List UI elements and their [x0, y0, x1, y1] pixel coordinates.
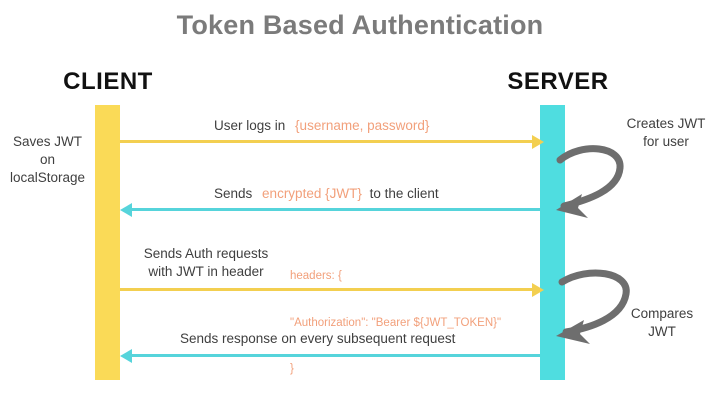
- message-arrow-response: [132, 354, 540, 357]
- message-label-auth-request: Sends Auth requests with JWT in header: [126, 245, 286, 280]
- arrowhead-login: [532, 135, 544, 149]
- note-client-storage-line2: on: [0, 151, 95, 169]
- code-block-headers: headers: { "Authorization": "Bearer ${JW…: [290, 238, 501, 404]
- self-loop-arrow-compares-jwt: [548, 262, 642, 354]
- message-label-auth-request-line1: Sends Auth requests: [126, 245, 286, 263]
- self-loop-arrow-creates-jwt: [548, 132, 638, 224]
- diagram-canvas: Token Based Authentication CLIENT SERVER…: [0, 0, 720, 404]
- arrowhead-auth-request: [532, 283, 544, 297]
- lifeline-client: [95, 105, 120, 380]
- message-label-send-jwt-accent: encrypted {JWT}: [262, 186, 362, 201]
- message-label-send-jwt: Sends encrypted {JWT} to the client: [214, 186, 439, 201]
- message-arrow-auth-request: [120, 288, 534, 291]
- message-label-login-main: User logs in: [214, 118, 285, 133]
- message-label-send-jwt-tail: to the client: [370, 186, 439, 201]
- note-server-creates-jwt-line1: Creates JWT: [612, 115, 720, 133]
- message-label-response: Sends response on every subsequent reque…: [180, 331, 455, 346]
- note-client-storage-line1: Saves JWT: [0, 133, 95, 151]
- message-arrow-send-jwt: [132, 208, 540, 211]
- arrowhead-response: [120, 349, 132, 363]
- page-title: Token Based Authentication: [0, 10, 720, 41]
- code-line-headers-close: }: [290, 362, 501, 378]
- actor-label-client: CLIENT: [38, 68, 178, 96]
- message-label-login: User logs in {username, password}: [214, 118, 429, 133]
- note-client-storage: Saves JWT on localStorage: [0, 133, 95, 186]
- message-arrow-login: [120, 140, 534, 143]
- actor-label-server: SERVER: [488, 68, 628, 96]
- message-label-login-accent: {username, password}: [295, 118, 429, 133]
- arrowhead-send-jwt: [120, 203, 132, 217]
- message-label-auth-request-line2: with JWT in header: [126, 263, 286, 281]
- code-line-headers-open: headers: {: [290, 269, 501, 285]
- message-label-send-jwt-main: Sends: [214, 186, 252, 201]
- code-line-authorization: "Authorization": "Bearer ${JWT_TOKEN}": [290, 316, 501, 332]
- note-client-storage-line3: localStorage: [0, 169, 95, 187]
